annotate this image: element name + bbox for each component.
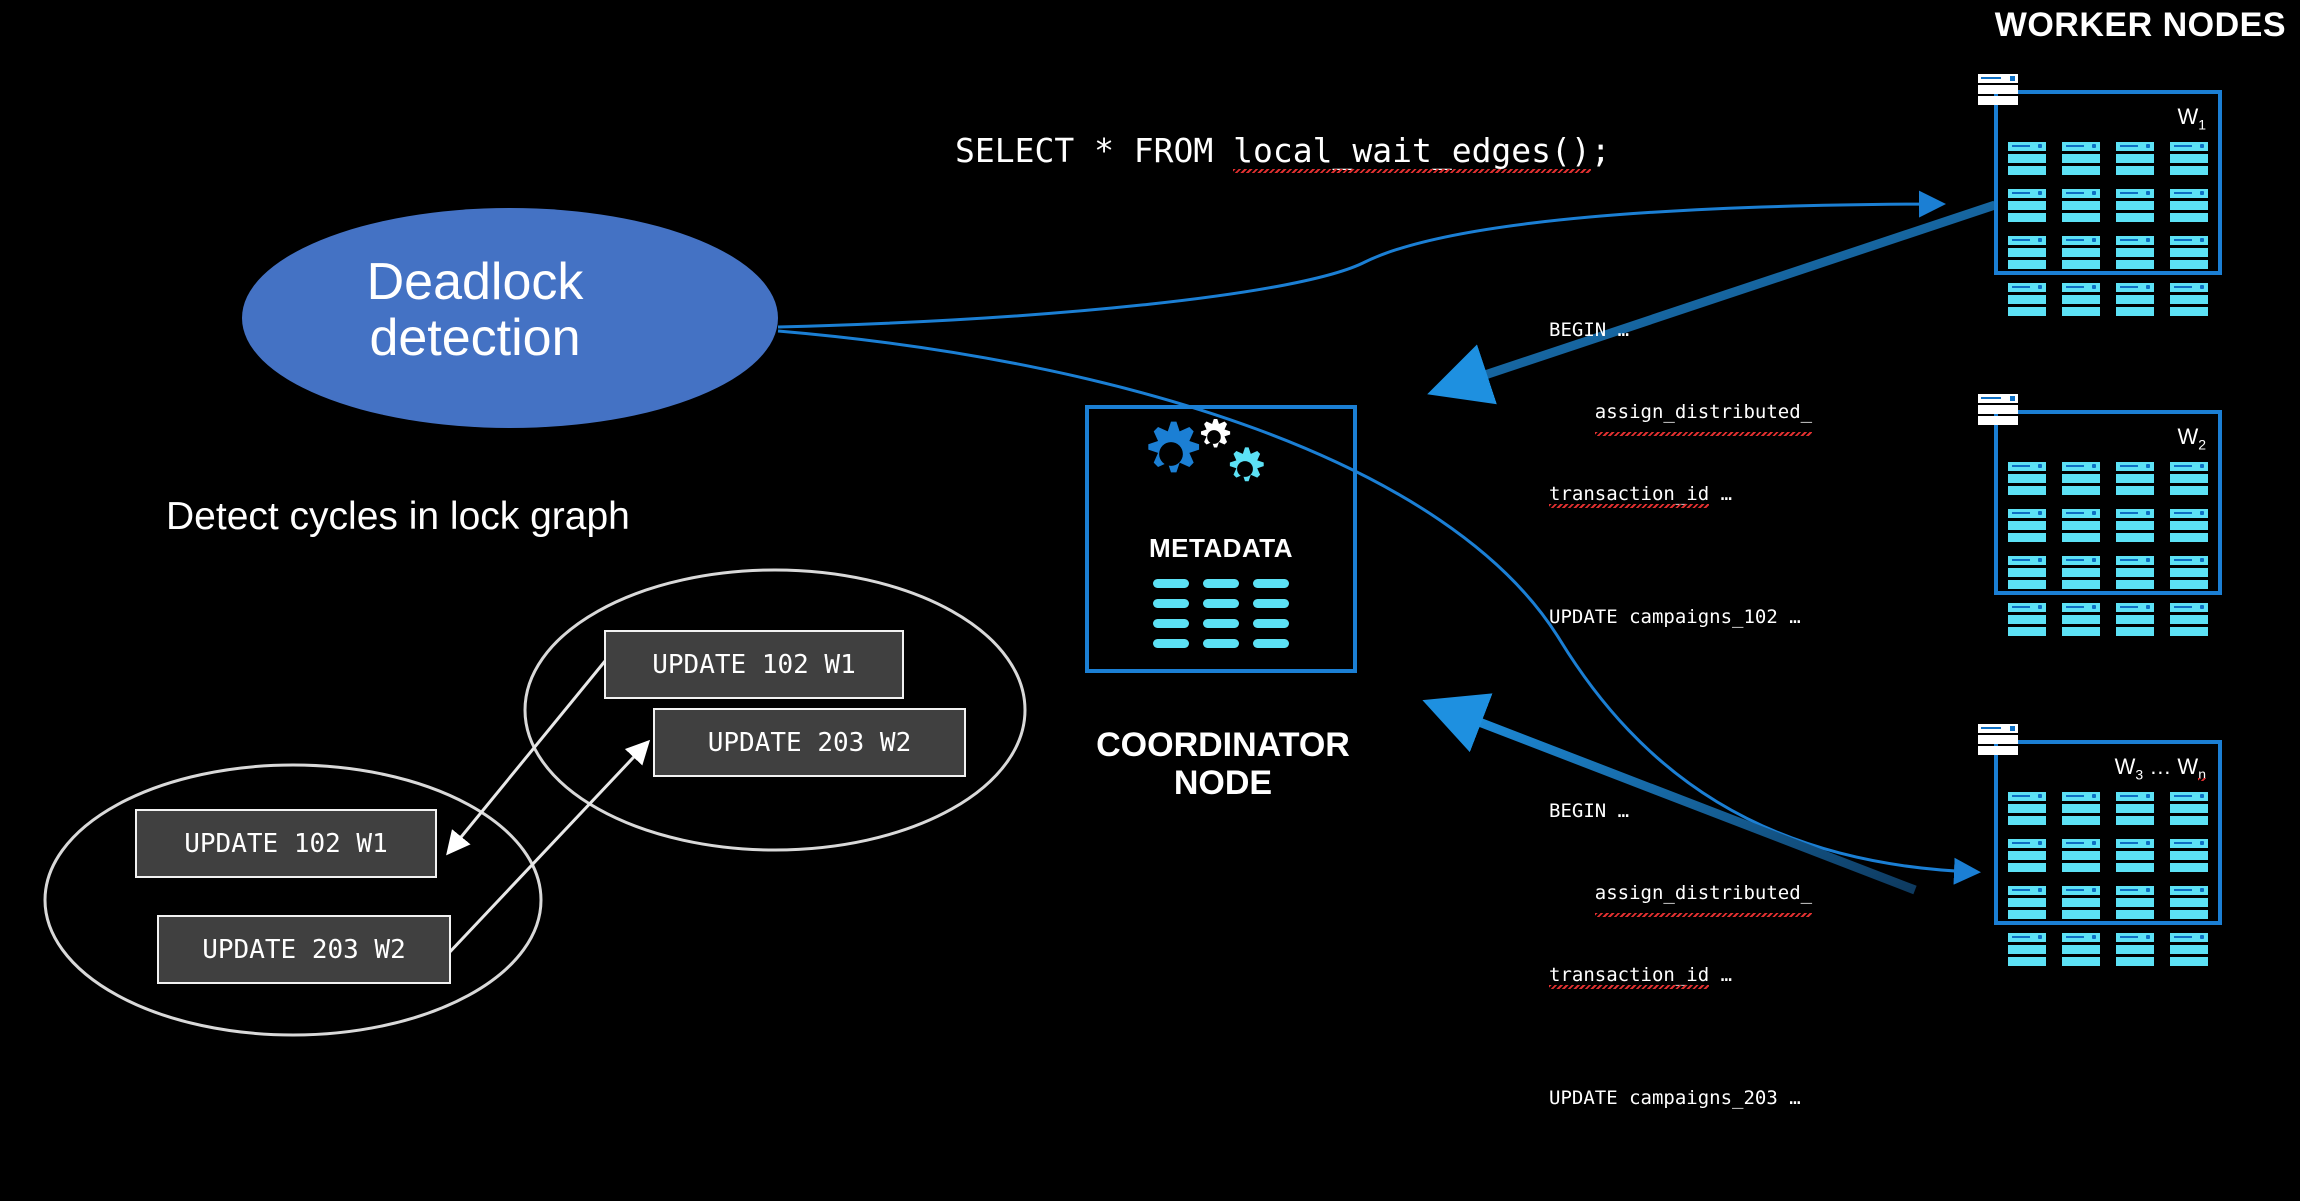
metadata-label: METADATA [1089,533,1353,564]
server-stack-icon [1978,394,2018,427]
server-unit [2008,886,2046,919]
server-unit [2170,462,2208,495]
server-unit [2116,792,2154,825]
txn-line-assign: assign_distributed_ [1595,873,1812,914]
txn-line-begin: BEGIN … [1549,310,1812,351]
lock-node-box: UPDATE 102 W1 [604,630,904,699]
server-rack [2008,792,2208,966]
server-unit [2116,839,2154,872]
transaction-block-203: BEGIN … assign_distributed_ transaction_… [1549,709,1812,1201]
server-rack [2008,462,2208,636]
server-unit [2116,283,2154,316]
server-unit [2008,792,2046,825]
sql-statement: SELECT * FROM local_wait_edges(); [955,131,1611,170]
server-unit [2170,283,2208,316]
txn-line-begin: BEGIN … [1549,791,1812,832]
server-unit [2008,283,2046,316]
server-unit [2170,886,2208,919]
sql-prefix: SELECT * FROM [955,131,1233,170]
coordinator-node-box: METADATA [1085,405,1357,673]
gear-icon-white [1201,419,1230,448]
lock-node-box: UPDATE 203 W2 [653,708,966,777]
worker-nodes-title: WORKER NODES [1995,6,2286,45]
server-unit [2008,462,2046,495]
server-unit [2116,509,2154,542]
server-unit [2170,933,2208,966]
diagram-canvas: Deadlock detection Detect cycles in lock… [0,0,2300,1072]
server-unit [2116,556,2154,589]
server-unit [2170,189,2208,222]
server-unit [2170,509,2208,542]
server-unit [2170,142,2208,175]
server-unit [2170,792,2208,825]
lock-node-box: UPDATE 203 W2 [157,915,451,984]
metadata-bars [1153,579,1289,648]
server-unit [2008,603,2046,636]
server-unit [2170,603,2208,636]
server-unit [2008,509,2046,542]
server-unit [2062,886,2100,919]
server-unit [2116,142,2154,175]
server-unit [2062,283,2100,316]
sql-suffix: ; [1591,131,1611,170]
server-stack-icon [1978,724,2018,757]
server-unit [2062,236,2100,269]
worker-node-label: W3 … Wn [2115,754,2206,782]
coordinator-node-title: COORDINATOR NODE [1063,726,1383,802]
detect-cycles-label: Detect cycles in lock graph [166,495,630,539]
sql-function-name: local_wait_edges() [1233,131,1591,170]
server-unit [2008,189,2046,222]
worker-node-3: W3 … Wn [1994,740,2222,925]
worker-node-label: W1 [2177,104,2206,132]
txn-line-update: UPDATE campaigns_102 … [1549,597,1812,638]
server-unit [2008,236,2046,269]
txn-line-transaction-id: transaction_id [1549,964,1709,986]
worker-node-2: W2 [1994,410,2222,595]
server-unit [2170,556,2208,589]
server-unit [2116,189,2154,222]
worker-node-label: W2 [2177,424,2206,452]
txn-line-assign: assign_distributed_ [1595,392,1812,433]
server-unit [2062,462,2100,495]
server-unit [2008,142,2046,175]
transaction-block-102: BEGIN … assign_distributed_ transaction_… [1549,228,1812,720]
server-unit [2062,933,2100,966]
deadlock-detection-title: Deadlock detection [240,254,710,366]
server-unit [2062,509,2100,542]
txn-line-transaction-id-ellipsis: … [1709,483,1732,505]
server-stack-icon [1978,74,2018,107]
gears-icon-group [1089,419,1361,529]
server-unit [2062,792,2100,825]
server-unit [2116,462,2154,495]
server-unit [2116,236,2154,269]
server-unit [2062,142,2100,175]
server-unit [2008,556,2046,589]
txn-line-update: UPDATE campaigns_203 … [1549,1078,1812,1119]
server-unit [2116,603,2154,636]
server-unit [2062,839,2100,872]
lock-node-box: UPDATE 102 W1 [135,809,437,878]
server-unit [2008,933,2046,966]
server-unit [2008,839,2046,872]
server-unit [2116,886,2154,919]
server-unit [2116,933,2154,966]
gear-icon-blue [1148,422,1199,473]
server-unit [2062,556,2100,589]
worker-node-1: W1 [1994,90,2222,275]
txn-line-transaction-id: transaction_id [1549,483,1709,505]
server-unit [2170,236,2208,269]
server-unit [2062,603,2100,636]
gear-icon-cyan [1230,447,1264,481]
server-unit [2062,189,2100,222]
server-rack [2008,142,2208,316]
server-unit [2170,839,2208,872]
txn-line-transaction-id-ellipsis: … [1709,964,1732,986]
